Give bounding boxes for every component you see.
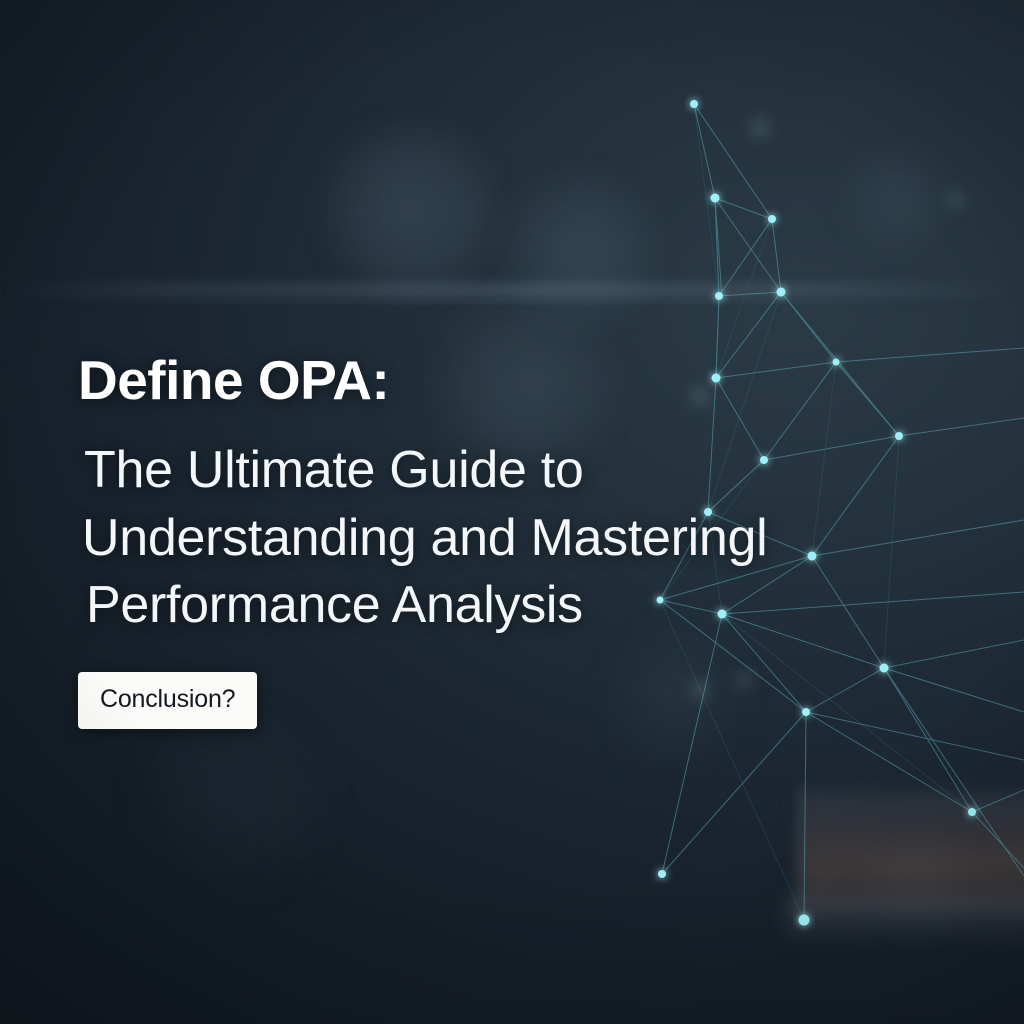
laptop-edge (800, 786, 804, 914)
subtitle-line-1: The Ultimate Guide to (84, 437, 1024, 505)
bokeh-light-6 (860, 820, 980, 940)
laptop-screen-glow (800, 792, 1024, 910)
bokeh-light-4 (836, 140, 956, 260)
page-subtitle: The Ultimate Guide to Understanding and … (84, 437, 1024, 640)
bokeh-light-2 (500, 168, 660, 333)
subtitle-line-3: Performance Analysis (86, 572, 1024, 640)
bokeh-light-1 (318, 118, 500, 300)
poster-content: Define OPA: The Ultimate Guide to Unders… (78, 352, 1024, 729)
conclusion-button[interactable]: Conclusion? (78, 672, 257, 729)
horizon-light-streak-secondary (0, 300, 1024, 303)
page-title: Define OPA: (78, 352, 1024, 409)
laptop-base (786, 896, 1024, 942)
subtitle-line-2: Understanding and Masteringl (82, 505, 1024, 573)
horizon-light-streak (0, 282, 1024, 298)
poster-canvas: Define OPA: The Ultimate Guide to Unders… (0, 0, 1024, 1024)
bokeh-light-7 (120, 700, 350, 900)
